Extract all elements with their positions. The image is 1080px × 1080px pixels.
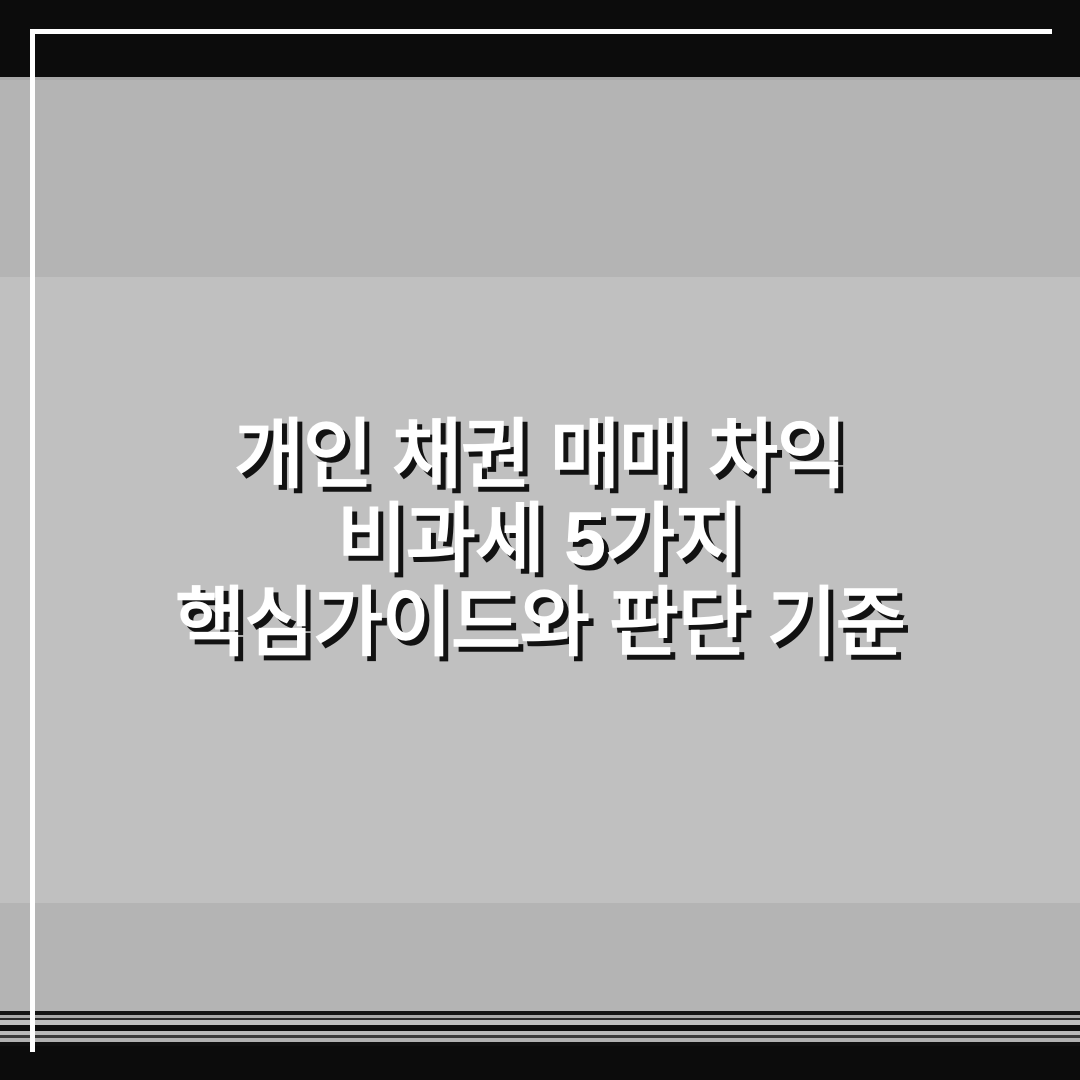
bottom-stripe-stack [0,1008,1080,1046]
thumbnail-canvas: 개인 채권 매매 차익 비과세 5가지 핵심가이드와 판단 기준 [0,0,1080,1080]
content-plate [0,77,1080,1008]
dark-header-band [0,0,1080,77]
lower-tone-band [0,903,1080,1008]
left-frame-rule [30,29,35,1052]
middle-tone-band [0,277,1080,903]
top-frame-rule [30,29,1052,34]
upper-tone-band [0,80,1080,277]
dark-footer-band [0,1046,1080,1080]
